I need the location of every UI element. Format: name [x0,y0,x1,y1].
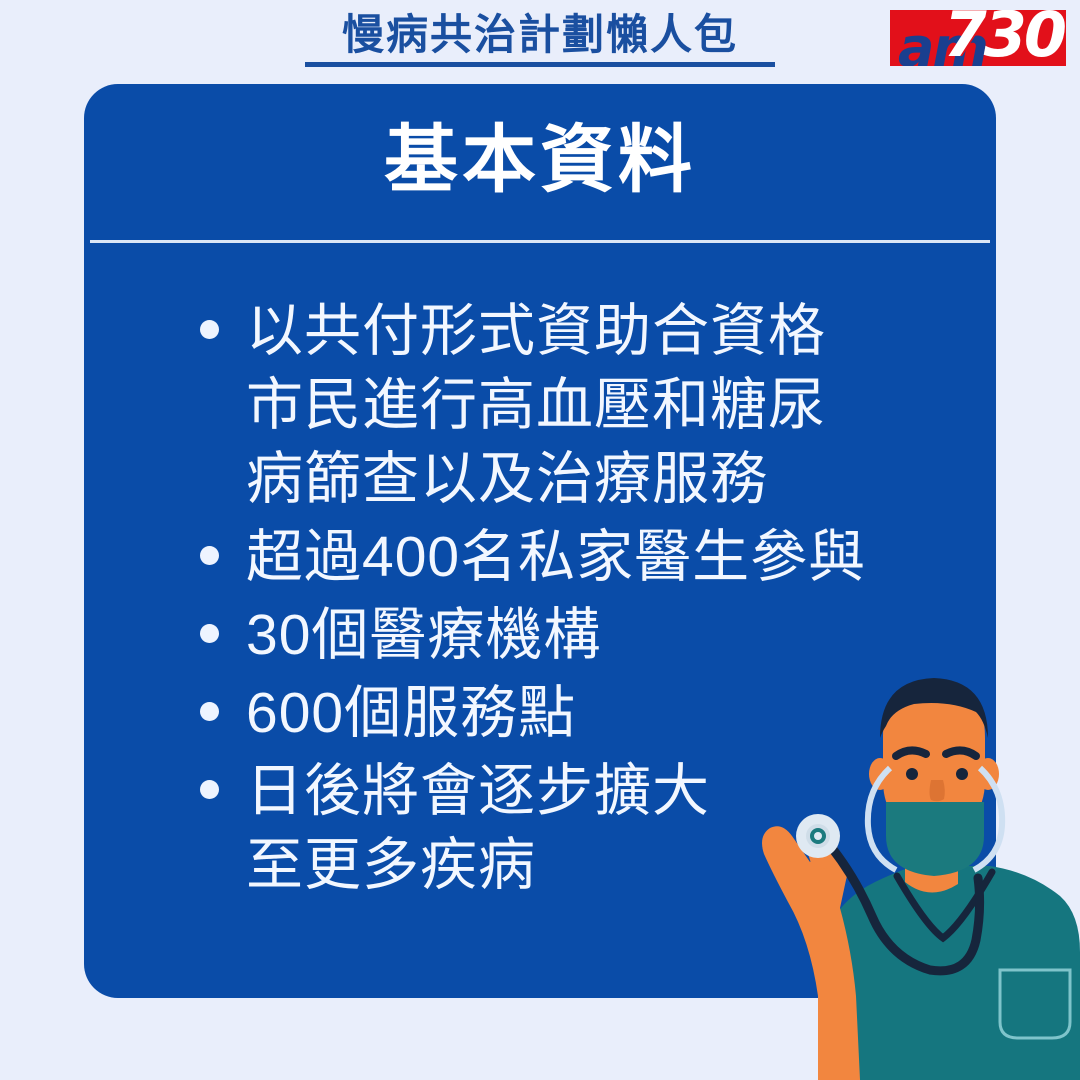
list-item-label: 30個醫療機構 [246,603,601,667]
list-item-label: 以共付形式資助合資格 市民進行高血壓和糖尿 病篩查以及治療服務 [246,299,826,511]
list-item-label: 超過400名私家醫生參與 [246,525,866,589]
bullet-point-icon [200,624,219,643]
list-item: 以共付形式資助合資格 市民進行高血壓和糖尿 病篩查以及治療服務 [188,294,988,516]
bullet-point-icon [200,780,219,799]
doctor-scrubs-pocket [1000,970,1070,1038]
list-item: 30個醫療機構 [188,598,988,672]
list-item: 日後將會逐步擴大 至更多疾病 [188,754,988,902]
brand-logo-730-text: 730 [944,10,1064,66]
bullet-point-icon [200,320,219,339]
card-divider [90,240,990,243]
info-card: 基本資料 以共付形式資助合資格 市民進行高血壓和糖尿 病篩查以及治療服務 超過4… [84,84,996,998]
bullet-point-icon [200,546,219,565]
bullet-list: 以共付形式資助合資格 市民進行高血壓和糖尿 病篩查以及治療服務 超過400名私家… [188,294,988,906]
bullet-point-icon [200,702,219,721]
list-item-label: 日後將會逐步擴大 至更多疾病 [246,759,710,897]
top-bar: 慢病共治計劃懶人包 am 730 [0,0,1080,82]
am730-logo: am 730 [890,10,1066,66]
card-header: 基本資料 [84,84,996,240]
list-item: 600個服務點 [188,676,988,750]
list-item-label: 600個服務點 [246,681,576,745]
list-item: 超過400名私家醫生參與 [188,520,988,594]
page-title-underline [305,62,775,67]
card-header-title: 基本資料 [84,118,996,202]
